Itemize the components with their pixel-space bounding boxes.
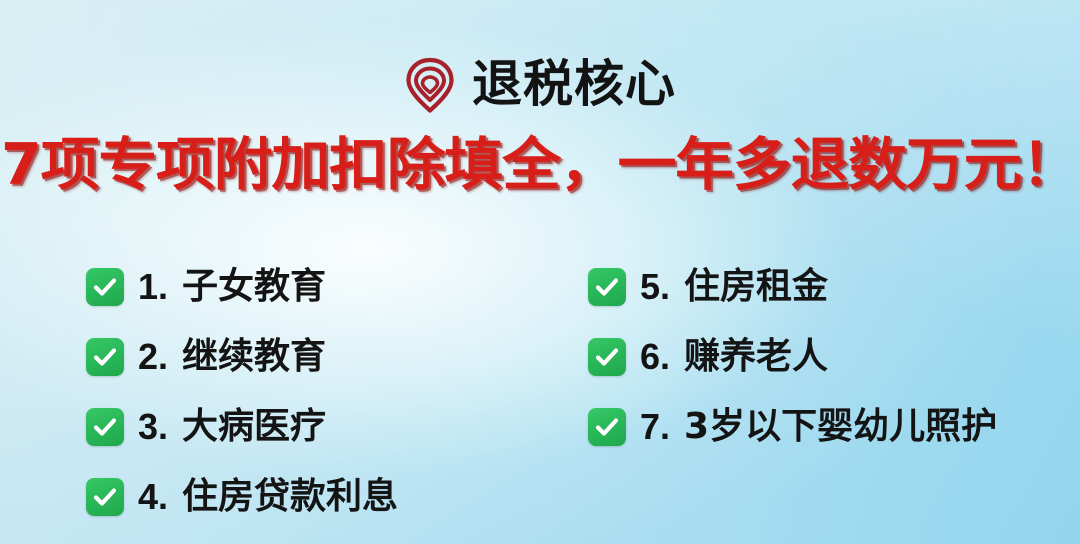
checklist-column-left: 1. 子女教育 2. 继续教育 3. 大病医疗 [86, 252, 398, 532]
list-item-label: 继续教育 [182, 339, 326, 375]
list-item[interactable]: 2. 继续教育 [86, 322, 398, 392]
headline-text: 7项专项附加扣除填全，一年多退数万元！ [0, 134, 1080, 198]
white-checkmark-icon [86, 408, 124, 446]
poster-content: 退税核心 7项专项附加扣除填全，一年多退数万元！ 1. 子女教育 2. [0, 0, 1080, 544]
list-item[interactable]: 7. 3岁以下婴幼儿照护 [588, 392, 997, 462]
list-item-label: 大病医疗 [182, 409, 326, 445]
list-item[interactable]: 5. 住房租金 [588, 252, 997, 322]
list-item-number: 7. [640, 409, 670, 445]
list-item-number: 3. [138, 409, 168, 445]
white-checkmark-icon [588, 268, 626, 306]
deduction-checklist: 1. 子女教育 2. 继续教育 3. 大病医疗 [0, 252, 1080, 532]
white-checkmark-icon [86, 478, 124, 516]
header-row: 退税核心 [0, 54, 1080, 113]
list-item[interactable]: 1. 子女教育 [86, 252, 398, 322]
list-item-label: 3岁以下婴幼儿照护 [684, 409, 997, 445]
checklist-column-right: 5. 住房租金 6. 赚养老人 7. 3岁以下婴幼儿照护 [588, 252, 997, 462]
page-title: 退税核心 [472, 59, 676, 109]
list-item-number: 1. [138, 269, 168, 305]
list-item-label: 子女教育 [182, 269, 326, 305]
list-item-number: 4. [138, 479, 168, 515]
list-item-label: 住房贷款利息 [182, 479, 398, 515]
target-pin-icon [404, 54, 456, 113]
list-item[interactable]: 4. 住房贷款利息 [86, 462, 398, 532]
white-checkmark-icon [588, 338, 626, 376]
white-checkmark-icon [86, 338, 124, 376]
list-item-label: 住房租金 [684, 269, 828, 305]
poster-canvas: 退税核心 7项专项附加扣除填全，一年多退数万元！ 1. 子女教育 2. [0, 0, 1080, 544]
list-item[interactable]: 6. 赚养老人 [588, 322, 997, 392]
list-item-number: 6. [640, 339, 670, 375]
white-checkmark-icon [86, 268, 124, 306]
list-item-number: 5. [640, 269, 670, 305]
white-checkmark-icon [588, 408, 626, 446]
list-item-label: 赚养老人 [684, 339, 828, 375]
list-item-number: 2. [138, 339, 168, 375]
list-item[interactable]: 3. 大病医疗 [86, 392, 398, 462]
